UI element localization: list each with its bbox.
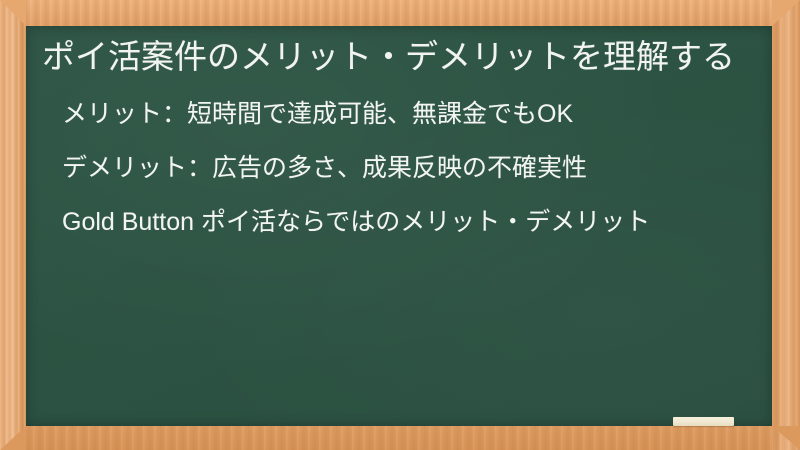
frame-top-rail	[0, 0, 800, 26]
frame-corner-bottom-left	[0, 426, 26, 450]
frame-corner-bottom-right	[772, 426, 800, 450]
frame-left-rail	[0, 0, 26, 450]
list-item: Gold Button ポイ活ならではのメリット・デメリット	[40, 204, 758, 240]
slide-canvas: ポイ活案件のメリット・デメリットを理解する メリット：短時間で達成可能、無課金で…	[0, 0, 800, 450]
chalkboard-content: ポイ活案件のメリット・デメリットを理解する メリット：短時間で達成可能、無課金で…	[26, 26, 772, 426]
page-title: ポイ活案件のメリット・デメリットを理解する	[40, 32, 758, 78]
frame-corner-top-right	[772, 0, 800, 26]
chalk-stick	[673, 417, 734, 426]
frame-corner-top-left	[0, 0, 26, 26]
frame-bottom-rail	[0, 426, 800, 450]
bullet-list: メリット：短時間で達成可能、無課金でもOK デメリット：広告の多さ、成果反映の不…	[40, 96, 758, 240]
list-item: メリット：短時間で達成可能、無課金でもOK	[40, 96, 758, 132]
list-item: デメリット：広告の多さ、成果反映の不確実性	[40, 150, 758, 186]
chalkboard: ポイ活案件のメリット・デメリットを理解する メリット：短時間で達成可能、無課金で…	[26, 26, 772, 426]
frame-right-rail	[772, 0, 800, 450]
